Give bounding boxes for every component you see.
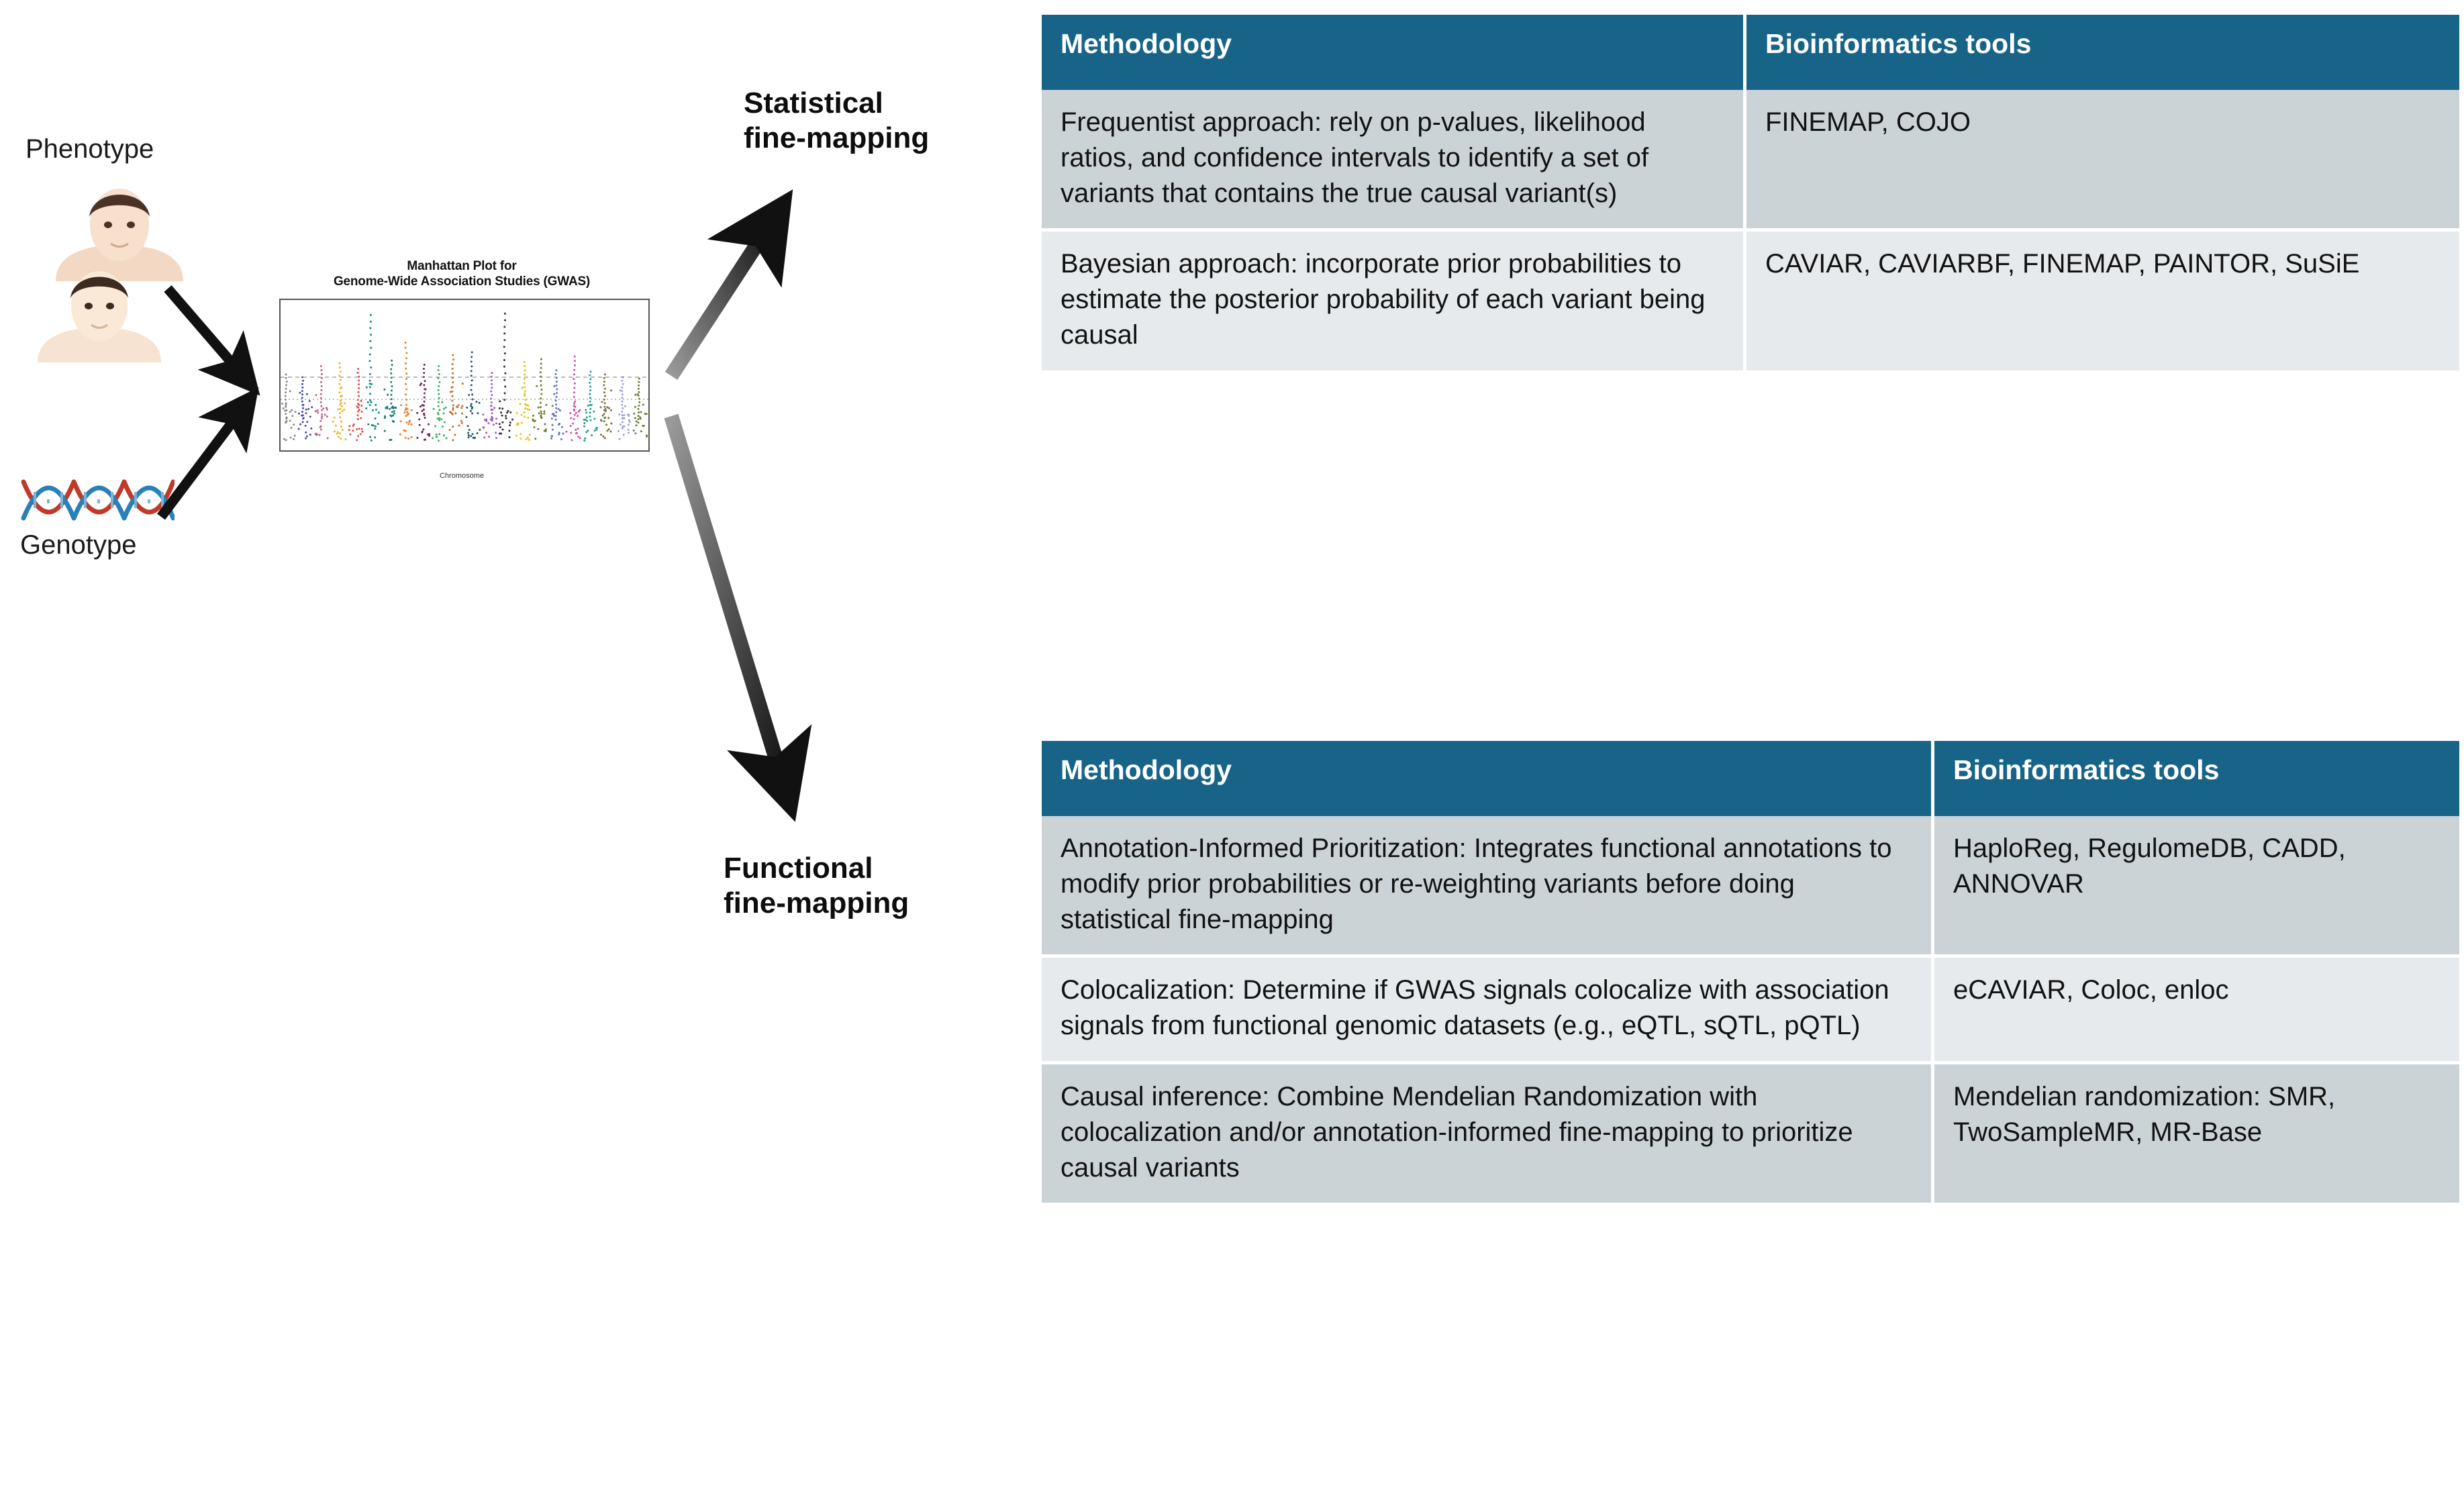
manhattan-title-line1: Manhattan Plot for — [267, 258, 656, 274]
manhattan-plot-area — [279, 299, 650, 452]
table-row: Bayesian approach: incorporate prior pro… — [1042, 232, 2459, 370]
functional-label-line2: fine-mapping — [724, 886, 909, 921]
statistical-fine-mapping-label: Statistical fine-mapping — [744, 86, 929, 156]
functional-fine-mapping-table: Methodology Bioinformatics tools Annotat… — [1042, 741, 2459, 1203]
cell-tools: HaploReg, RegulomeDB, CADD, ANNOVAR — [1934, 816, 2459, 958]
cell-tools: CAVIAR, CAVIARBF, FINEMAP, PAINTOR, SuSi… — [1746, 232, 2459, 370]
cell-methodology: Frequentist approach: rely on p-values, … — [1042, 90, 1746, 232]
column-header-methodology: Methodology — [1042, 15, 1746, 90]
statistical-label-line1: Statistical — [744, 86, 929, 121]
column-header-methodology: Methodology — [1042, 741, 1934, 816]
cell-tools: eCAVIAR, Coloc, enloc — [1934, 958, 2459, 1064]
table-row: Annotation-Informed Prioritization: Inte… — [1042, 816, 2459, 958]
column-header-tools: Bioinformatics tools — [1746, 15, 2459, 90]
manhattan-plot: Manhattan Plot for Genome-Wide Associati… — [267, 258, 656, 487]
cell-methodology: Colocalization: Determine if GWAS signal… — [1042, 958, 1934, 1064]
statistical-fine-mapping-table: Methodology Bioinformatics tools Frequen… — [1042, 15, 2459, 370]
manhattan-plot-title: Manhattan Plot for Genome-Wide Associati… — [267, 258, 656, 289]
diagram-panel: Phenotype — [0, 0, 1047, 1504]
cell-methodology: Causal inference: Combine Mendelian Rand… — [1042, 1064, 1934, 1203]
dna-helix-icon — [20, 470, 175, 530]
manhattan-points — [281, 300, 648, 450]
phenotype-label: Phenotype — [26, 134, 154, 164]
table-row: Colocalization: Determine if GWAS signal… — [1042, 958, 2459, 1064]
table-header-row: Methodology Bioinformatics tools — [1042, 741, 2459, 816]
cell-tools: Mendelian randomization: SMR, TwoSampleM… — [1934, 1064, 2459, 1203]
arrow-plot-to-functional — [671, 416, 784, 785]
table-header-row: Methodology Bioinformatics tools — [1042, 15, 2459, 90]
people-icon — [19, 178, 220, 379]
column-header-tools: Bioinformatics tools — [1934, 741, 2459, 816]
manhattan-x-axis-label: Chromosome — [267, 472, 656, 480]
table-row: Causal inference: Combine Mendelian Rand… — [1042, 1064, 2459, 1203]
table-row: Frequentist approach: rely on p-values, … — [1042, 90, 2459, 232]
genotype-label: Genotype — [20, 530, 136, 560]
functional-label-line1: Functional — [724, 851, 909, 886]
manhattan-title-line2: Genome-Wide Association Studies (GWAS) — [267, 274, 656, 289]
arrow-plot-to-statistical — [671, 221, 772, 376]
statistical-label-line2: fine-mapping — [744, 121, 929, 156]
cell-tools: FINEMAP, COJO — [1746, 90, 2459, 232]
cell-methodology: Annotation-Informed Prioritization: Inte… — [1042, 816, 1934, 958]
functional-fine-mapping-label: Functional fine-mapping — [724, 851, 909, 921]
cell-methodology: Bayesian approach: incorporate prior pro… — [1042, 232, 1746, 370]
